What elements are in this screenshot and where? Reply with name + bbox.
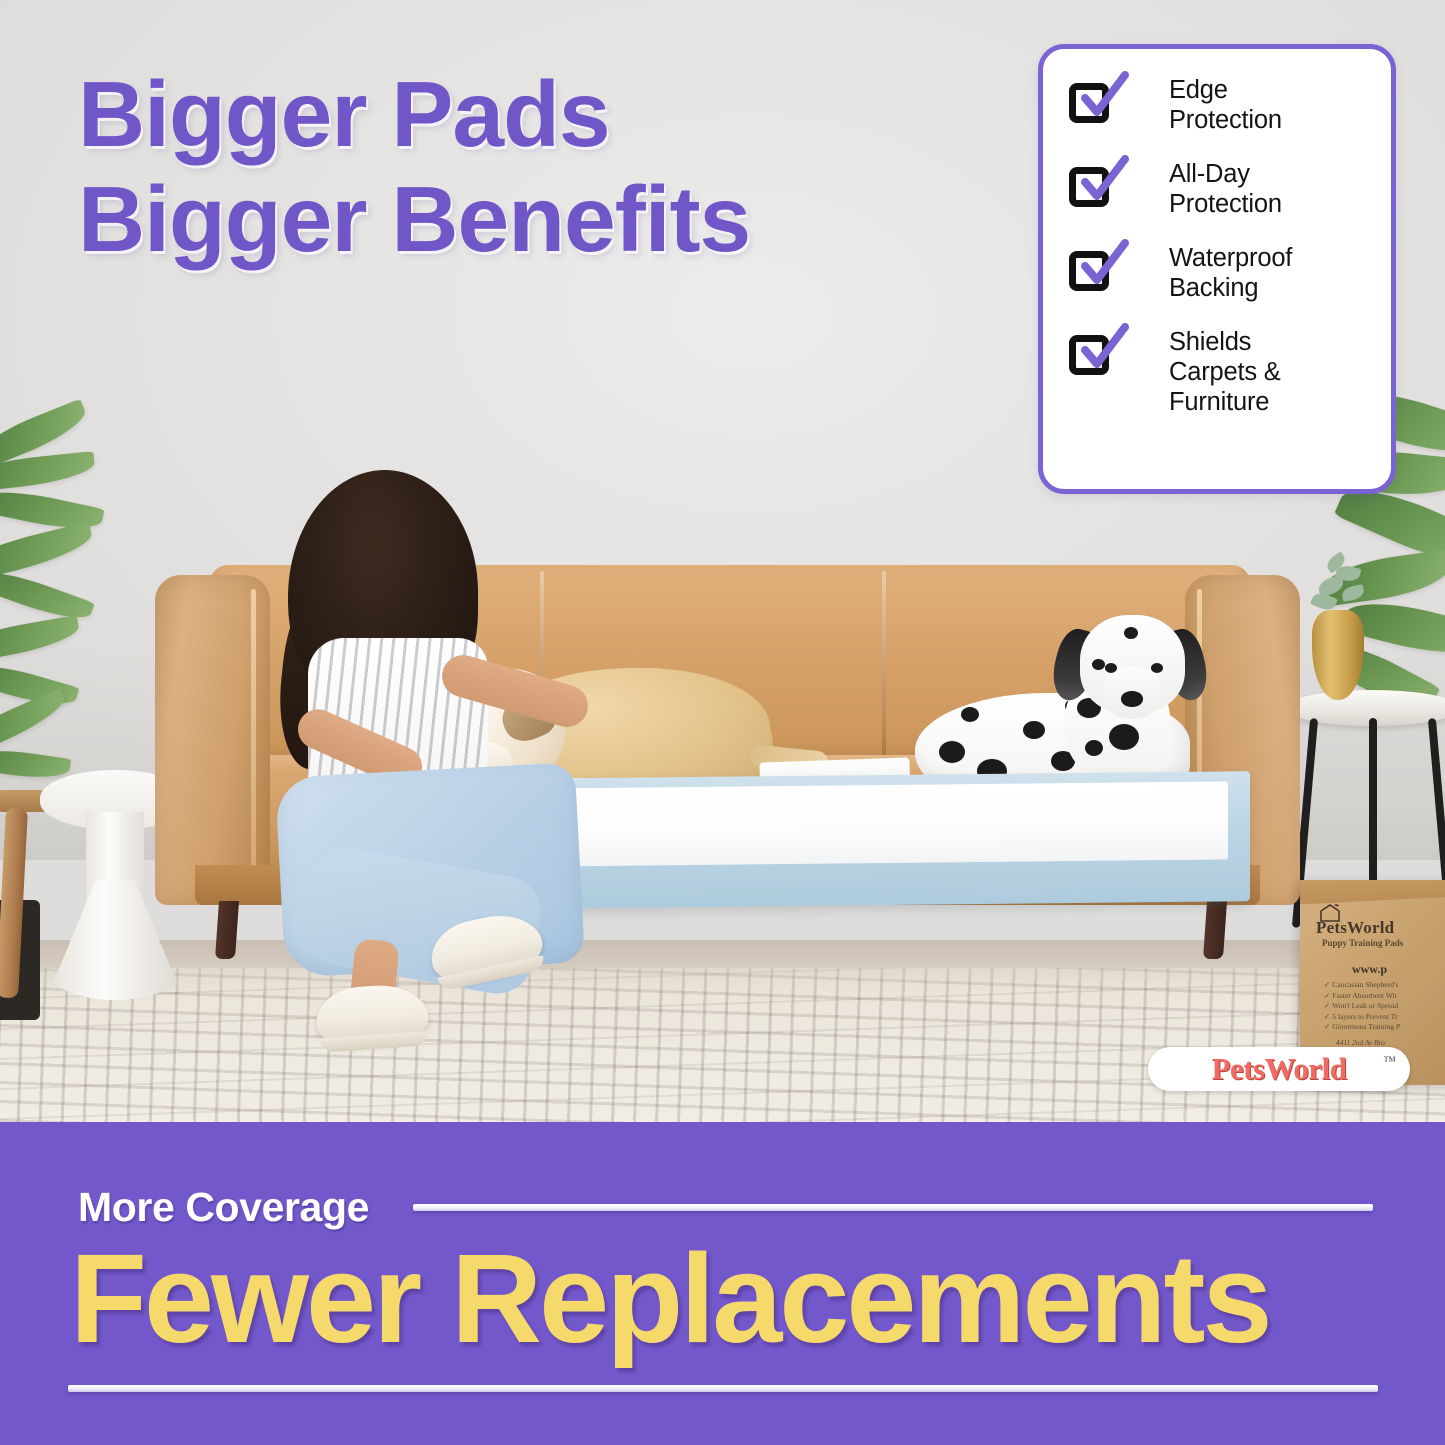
box-brand: PetsWorld (1316, 918, 1394, 938)
feature-checklist-card: EdgeProtection All-DayProtection Waterpr… (1038, 44, 1396, 494)
headline-line-1: Bigger Pads (78, 62, 938, 167)
box-tagline: Puppy Training Pads (1322, 938, 1403, 948)
checklist-item: All-DayProtection (1067, 159, 1373, 219)
brand-badge: PetsWorld ™ (1148, 1047, 1410, 1091)
checkbox-checked-icon (1067, 245, 1125, 297)
box-bullet-list: ✓ Caucasian Shepherd's✓ Faster Absorbent… (1324, 980, 1400, 1033)
checklist-label: EdgeProtection (1125, 75, 1282, 135)
woman-on-sofa (230, 470, 630, 1030)
brand-name: PetsWorld (1212, 1051, 1347, 1087)
sofa-leg (1203, 901, 1227, 959)
checkbox-checked-icon (1067, 77, 1125, 129)
bottom-banner: More Coverage Fewer Replacements (0, 1122, 1445, 1445)
checkbox-checked-icon (1067, 329, 1125, 381)
sneaker-left (314, 982, 430, 1048)
banner-divider-top (413, 1204, 1373, 1211)
banner-headline: Fewer Replacements (70, 1234, 1400, 1364)
page-title: Bigger Pads Bigger Benefits (78, 62, 938, 272)
banner-divider-bottom (68, 1385, 1378, 1392)
pad-white-surface (542, 781, 1228, 866)
checklist-label: All-DayProtection (1125, 159, 1282, 219)
product-marketing-image: PetsWorld Puppy Training Pads www.p ✓ Ca… (0, 0, 1445, 1445)
area-rug (0, 968, 1445, 1122)
checklist-label: WaterproofBacking (1125, 243, 1292, 303)
banner-kicker: More Coverage (78, 1184, 369, 1231)
banner-kicker-row: More Coverage (78, 1184, 1373, 1231)
checklist-item: EdgeProtection (1067, 75, 1373, 135)
box-website: www.p (1352, 962, 1387, 977)
checkbox-checked-icon (1067, 161, 1125, 213)
checklist-label: ShieldsCarpets &Furniture (1125, 327, 1281, 417)
headline-line-2: Bigger Benefits (78, 167, 938, 272)
box-address: 4411 2nd Av Bro (1336, 1038, 1385, 1047)
trademark-symbol: ™ (1383, 1053, 1396, 1069)
checklist-item: WaterproofBacking (1067, 243, 1373, 303)
checklist-item: ShieldsCarpets &Furniture (1067, 327, 1373, 417)
